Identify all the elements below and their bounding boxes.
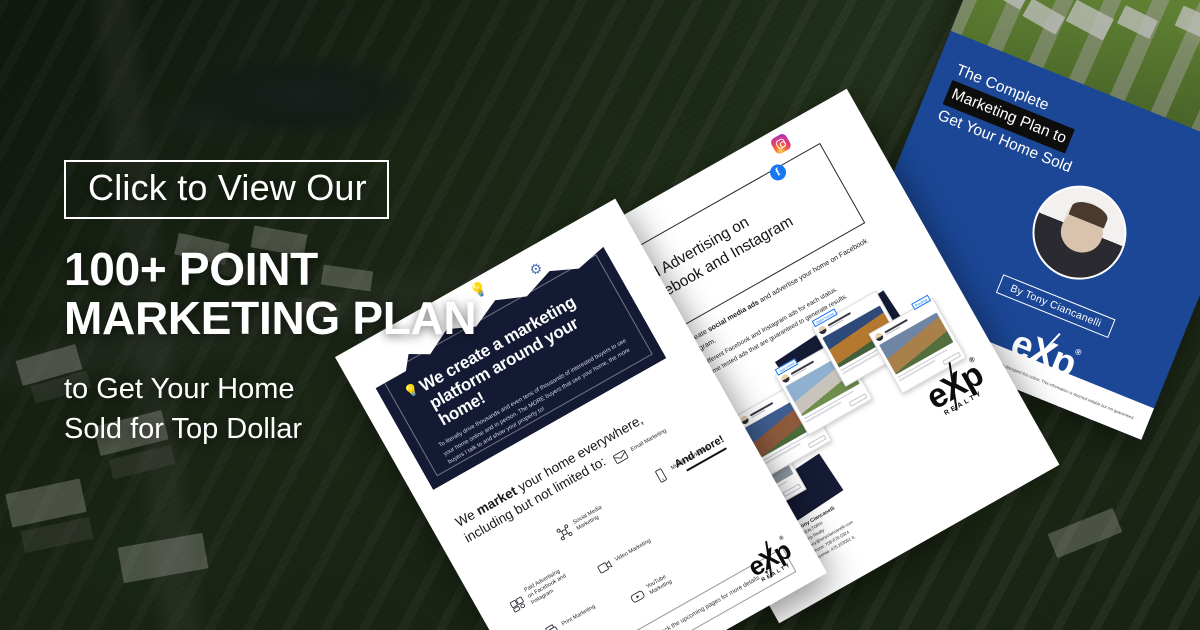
mobile-icon bbox=[651, 465, 671, 485]
hero-text-block: Click to View Our 100+ POINT MARKETING P… bbox=[64, 160, 494, 449]
video-icon bbox=[595, 557, 615, 577]
ad-avatar bbox=[780, 373, 791, 384]
channel-paid-advertising: Paid Advertising on Facebook and Instagr… bbox=[506, 567, 572, 617]
channel-label: Paid Advertising on Facebook and Instagr… bbox=[523, 567, 572, 607]
social-icons-group: f bbox=[758, 133, 823, 190]
channel-youtube: YouTube Marketing bbox=[627, 562, 690, 607]
headline-line-1: 100+ POINT bbox=[64, 245, 494, 294]
gear-icon: ⚙ bbox=[526, 259, 545, 280]
channel-label: Print Marketing bbox=[561, 601, 603, 629]
channel-label: YouTube Marketing bbox=[645, 563, 690, 597]
ad-avatar bbox=[874, 331, 885, 342]
channel-label: Video Marketing bbox=[614, 536, 656, 564]
subheadline: to Get Your Home Sold for Top Dollar bbox=[64, 369, 494, 449]
print-icon bbox=[541, 621, 561, 630]
cover-byline: By Tony Ciancanelli bbox=[996, 274, 1116, 338]
subheadline-line-2: Sold for Top Dollar bbox=[64, 409, 494, 449]
click-to-view-button[interactable]: Click to View Our bbox=[64, 160, 389, 219]
cta-label: Click to View Our bbox=[88, 170, 367, 206]
paid-ads-icon bbox=[507, 593, 527, 613]
channel-video: Video Marketing bbox=[595, 533, 658, 578]
instagram-icon bbox=[769, 132, 792, 155]
ad-photo bbox=[879, 312, 953, 374]
channel-search-engine: Search Engine Marketing bbox=[579, 627, 642, 630]
facebook-icon: f bbox=[767, 161, 789, 183]
subheadline-line-1: to Get Your Home bbox=[64, 369, 494, 409]
channel-print: Print Marketing bbox=[541, 597, 604, 630]
channel-label: Social Media Marketing bbox=[572, 498, 617, 532]
ad-avatar bbox=[817, 325, 828, 336]
social-media-icon bbox=[554, 522, 574, 542]
youtube-icon bbox=[627, 586, 647, 606]
headline-line-2: MARKETING PLAN bbox=[64, 294, 494, 343]
registered-mark: ® bbox=[1074, 347, 1083, 357]
channel-social-media: Social Media Marketing bbox=[554, 498, 617, 543]
